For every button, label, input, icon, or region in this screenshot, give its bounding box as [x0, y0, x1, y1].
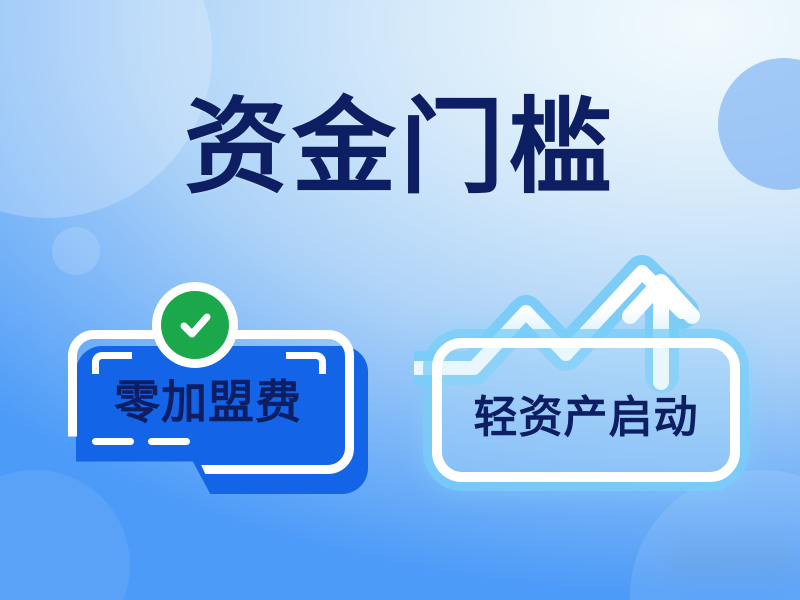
- check-circle-fill: [161, 291, 229, 359]
- background-circle-small-left: [52, 227, 100, 275]
- badge-label-zero-franchise-fee: 零加盟费: [62, 366, 354, 432]
- poster-canvas: 资金门槛 零加盟费: [0, 0, 800, 600]
- badge-light-asset-startup: 轻资产启动: [414, 250, 764, 500]
- dash-mark-bottom-1: [92, 438, 134, 445]
- badge-label-light-asset-startup: 轻资产启动: [432, 381, 740, 445]
- check-circle-icon: [152, 282, 238, 368]
- watermark-smudge: [668, 536, 794, 582]
- background-blob-bottom-left: [0, 470, 130, 600]
- dash-mark-bottom-2: [148, 438, 190, 445]
- page-title: 资金门槛: [0, 92, 800, 204]
- checkmark-glyph: [173, 303, 217, 347]
